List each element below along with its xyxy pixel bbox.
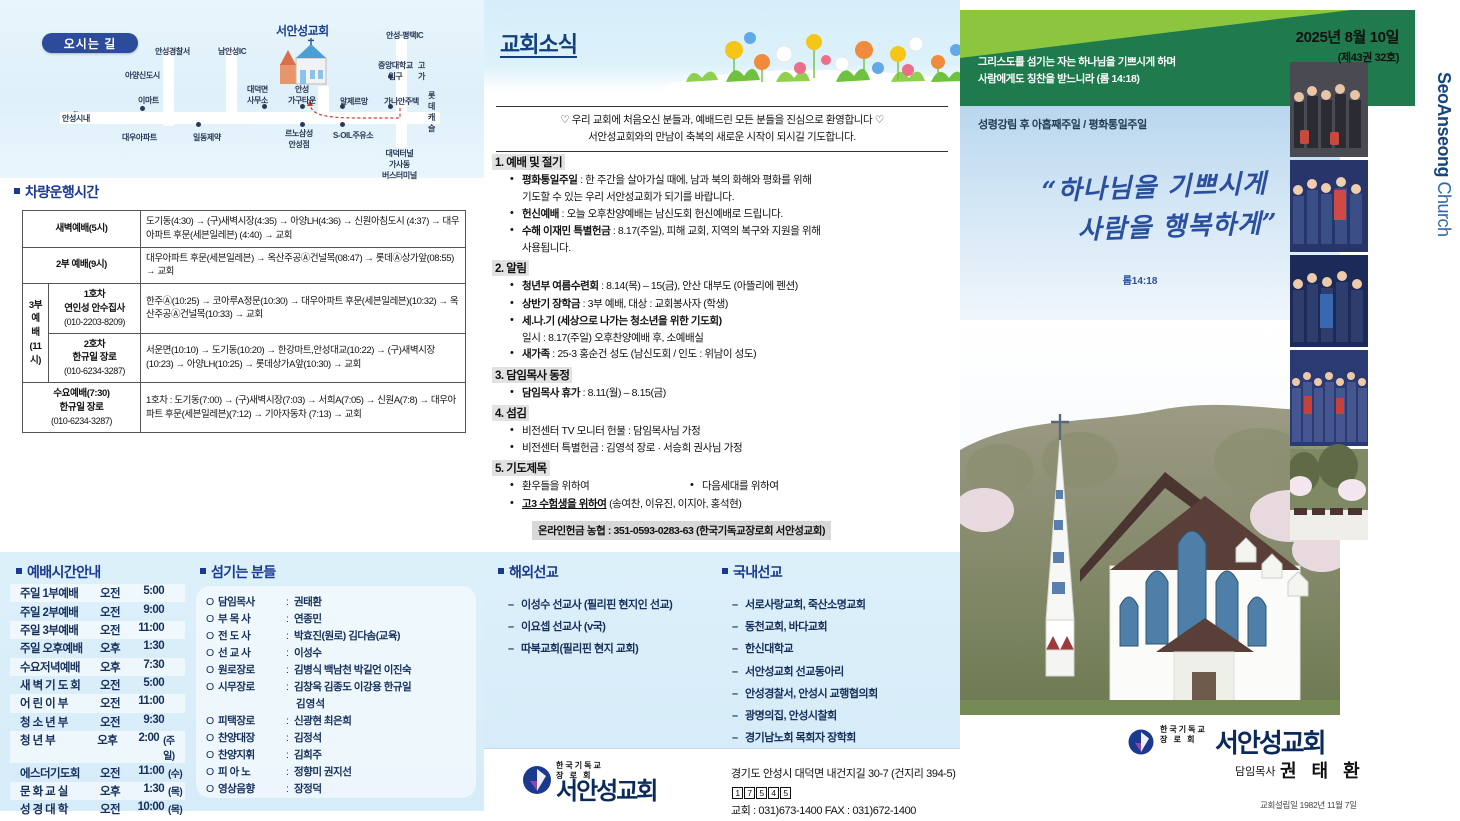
staff-colon: : (286, 747, 294, 764)
worship-time: 5:00 (126, 585, 164, 601)
news-item-continuation: 일시 : 8.17(주일) 오후찬양예배 후, 소예배실 (510, 330, 952, 346)
news-item-text: : 8.11(월) – 8.15(금) (580, 387, 666, 399)
cover-church-name: 서안성교회 (1215, 723, 1325, 760)
mission-label: 경기남노회 목회자 장학회 (745, 732, 856, 744)
list-dash-icon: – (732, 638, 745, 660)
list-dash-icon: – (508, 594, 521, 616)
online-offering-bank: 온라인헌금 농협 : 351-0593-0283-63 (한국기독교장로회 서안… (532, 521, 831, 540)
worship-note (164, 640, 168, 656)
worship-name: 주일 2부예배 (20, 604, 100, 620)
map-label: 안성경찰서 (155, 46, 190, 57)
worship-ampm: 오전 (100, 585, 126, 601)
prayer-item: 고3 수험생을 위하여 (송여찬, 이유진, 이지아, 홍석현) (510, 496, 952, 512)
postal-digit: 1 (732, 787, 743, 799)
mission-label: 안성경찰서, 안성시 교행협의회 (745, 688, 878, 700)
postal-digit: 5 (780, 787, 791, 799)
staff-row: O피택장로:신광현 최은희 (206, 713, 466, 730)
left-lower-panel: 예배시간안내 주일 1부예배오전5:00주일 2부예배오전9:00주일 3부예배… (0, 552, 484, 811)
worship-name: 수요저녁예배 (20, 659, 100, 675)
worship-time-row: 청 년 부오후2:00(주일) (10, 731, 185, 763)
worship-time: 10:00 (126, 801, 164, 817)
staff-role: 피 아 노 (218, 764, 286, 781)
mission-label: 이요셉 선교사 (v국) (521, 621, 605, 633)
worship-note: (목) (164, 783, 182, 799)
staff-heading: 섬기는 분들 (200, 562, 276, 582)
staff-bullet-icon: O (206, 594, 218, 611)
worship-note (164, 659, 168, 675)
bus-row-route: 대우아파트 후문(세븐일레븐) → 옥산주공Ⓐ건널목(08:47) → 롯데Ⓐ상… (141, 247, 466, 284)
domestic-mission-item: –안성경찰서, 안성시 교행협의회 (732, 683, 952, 705)
bus-row-route: 서운면(10:10) → 도기동(10:20) → 한강마트,안성대교(10:2… (141, 333, 466, 383)
worship-time-row: 어 린 이 부오전11:00 (10, 694, 185, 712)
bus-row-route: 도기동(4:30) → (구)새벽시장(4:35) → 아양LH(4:36) →… (141, 211, 466, 248)
worship-time: 2:00 (122, 732, 159, 762)
worship-name: 새 벽 기 도 회 (20, 677, 100, 693)
staff-value: 김희주 (294, 747, 321, 764)
worship-times-list: 주일 1부예배오전5:00주일 2부예배오전9:00주일 3부예배오전11:00… (10, 584, 185, 819)
list-dash-icon: – (732, 616, 745, 638)
staff-role: 원로장로 (218, 662, 286, 679)
vertical-brand-text: SeoAnseong Church (1433, 72, 1454, 237)
worship-note: (주일) (159, 732, 185, 762)
news-item-text: : 오늘 오후찬양예배는 남신도회 헌신예배로 드립니다. (559, 208, 783, 220)
liturgical-season: 성령강림 후 아홉째주일 / 평화통일주일 (978, 116, 1147, 132)
news-item: 세.나.기 (세상으로 나가는 청소년을 위한 기도회) (510, 313, 952, 329)
staff-value: 연종민 (294, 611, 321, 628)
worship-time-row: 주일 3부예배오전11:00 (10, 621, 185, 639)
map-label: 아양신도시 (125, 70, 160, 81)
staff-row: O시무장로:김창욱 김종도 이강용 한규일 (206, 679, 466, 696)
cover-column: 2025년 8월 10일 (제43권 32호) 그리스도를 섬기는 자는 하나님… (960, 0, 1460, 811)
news-item: 수해 이재민 특별헌금 : 8.17(주일), 피해 교회, 지역의 복구와 지… (510, 223, 952, 239)
section-bullet-icon (200, 568, 206, 574)
staff-role: 담임목사 (218, 594, 286, 611)
map-label: 대덕터널 가사동 버스터미널 (382, 148, 417, 181)
prayer-row: 환우들을 위하여다음세대를 위하여 (510, 478, 952, 495)
section-bullet-icon (722, 568, 728, 574)
postal-digit: 4 (768, 787, 779, 799)
worship-name: 문 화 교 실 (20, 783, 100, 799)
map-label: 가나안주택 (384, 96, 419, 107)
list-dash-icon: – (508, 616, 521, 638)
staff-row: O찬양대장:김정석 (206, 730, 466, 747)
news-item: 비전센터 TV 모니터 헌물 : 담임목사님 가정 (510, 423, 952, 439)
staff-row: O부 목 사:연종민 (206, 611, 466, 628)
worship-time-row: 새 벽 기 도 회오전5:00 (10, 676, 185, 694)
news-item: 담임목사 휴가 : 8.11(월) – 8.15(금) (510, 385, 952, 401)
map-label: 안성·평택IC (386, 30, 423, 41)
mission-label: 이성수 선교사 (필리핀 현지인 선교) (521, 599, 672, 611)
worship-ampm: 오전 (100, 765, 126, 781)
directions-map: 오시는 길 서안성교회 (0, 0, 484, 178)
domestic-missions-heading: 국내선교 (722, 562, 782, 582)
worship-note (164, 585, 168, 601)
footer-contact: 한국기독교 장 로 회 서안성교회 경기도 안성시 대덕면 내건지길 30-7 … (484, 748, 960, 811)
established-date: 교회설립일 1982년 11월 7일 (1260, 799, 1357, 811)
news-item: 비전센터 특별헌금 : 김영석 장로 · 서승희 권사님 가정 (510, 440, 952, 456)
calligraphy-reference: 롬14:18 (960, 272, 1320, 287)
news-item-text: : 8.17(주일), 피해 교회, 지역의 복구와 지원을 위해 (610, 225, 820, 237)
list-dash-icon: – (732, 594, 745, 616)
worship-times-heading: 예배시간안내 (16, 562, 101, 582)
news-section: 1. 예배 및 절기평화통일주일 : 한 주간을 살아가실 때에, 남과 북의 … (492, 154, 952, 256)
staff-value: 권태환 (294, 594, 321, 611)
worship-note: (목) (164, 801, 182, 817)
overseas-missions-list: –이성수 선교사 (필리핀 현지인 선교)–이요셉 선교사 (v국)–따북교회(… (508, 594, 718, 661)
news-item-text: : 한 주간을 살아가실 때에, 남과 북의 화해와 평화를 위해 (578, 174, 812, 186)
staff-value-continuation: 김영석 (206, 696, 466, 713)
worship-note (164, 677, 168, 693)
staff-bullet-icon: O (206, 679, 218, 696)
overseas-mission-item: –이요셉 선교사 (v국) (508, 616, 718, 638)
domestic-mission-item: –광명의집, 안성시찰회 (732, 705, 952, 727)
worship-name: 에스더기도회 (20, 765, 100, 781)
map-label: 남안성IC (218, 46, 246, 57)
staff-value: 이성수 (294, 645, 321, 662)
staff-bullet-icon: O (206, 645, 218, 662)
bus-schedule-heading: 차량운행시간 (14, 182, 99, 202)
worship-time: 11:00 (126, 695, 164, 711)
welcome-message: ♡ 우리 교회에 처음오신 분들과, 예배드린 모든 분들을 진심으로 환영합니… (496, 106, 948, 152)
worship-name: 청 년 부 (20, 732, 97, 762)
news-item-text: : 8.14(목) – 15(금), 안산 대부도 (아뜰리에 펜션) (599, 280, 798, 292)
staff-bullet-icon: O (206, 713, 218, 730)
staff-value: 김병식 백남천 박길언 이진숙 (294, 662, 411, 679)
missions-panel: 해외선교 국내선교 –이성수 선교사 (필리핀 현지인 선교)–이요셉 선교사 … (484, 552, 960, 748)
section-bullet-icon (16, 568, 22, 574)
flowers-decoration-icon (666, 20, 960, 92)
prayer-item-link: 고3 수험생을 위하여 (522, 498, 607, 510)
worship-time: 1:30 (126, 783, 164, 799)
news-item-bold: 청년부 여름수련회 (522, 280, 599, 292)
map-label: 중앙대학교 입구 (378, 60, 413, 82)
worship-time-row: 수요저녁예배오후7:30 (10, 658, 185, 676)
news-item: 청년부 여름수련회 : 8.14(목) – 15(금), 안산 대부도 (아뜰리… (510, 278, 952, 294)
staff-colon: : (286, 662, 294, 679)
postal-digit: 5 (756, 787, 767, 799)
worship-time-row: 주일 오후예배오후1:30 (10, 639, 185, 657)
news-item: 상반기 장학금 : 3부 예배, 대상 : 교회봉사자 (학생) (510, 296, 952, 312)
domestic-mission-item: –서로사랑교회, 죽산소명교회 (732, 594, 952, 616)
worship-ampm: 오전 (100, 604, 126, 620)
worship-note (164, 604, 168, 620)
news-item-text: 비전센터 TV 모니터 헌물 : 담임목사님 가정 (522, 425, 700, 437)
worship-time-row: 청 소 년 부오전9:30 (10, 713, 185, 731)
table-row: 2부 예배(9시) 대우아파트 후문(세븐일레븐) → 옥산주공Ⓐ건널목(08:… (23, 247, 466, 284)
bus-row-route: 한주Ⓐ(10:25) → 코아루A정문(10:30) → 대우아파트 후문(세븐… (141, 284, 466, 334)
bus-car-label: 1호차 연인성 안수집사 (010-2203-8209) (49, 284, 141, 334)
staff-role: 영상음향 (218, 781, 286, 798)
bus-car-label: 2호차 한규일 장로 (010-6234-3287) (49, 333, 141, 383)
mission-label: 동천교회, 바다교회 (745, 621, 827, 633)
prayer-item-names: (송여찬, 이유진, 이지아, 홍석현) (607, 498, 742, 510)
domestic-missions-list: –서로사랑교회, 죽산소명교회–동천교회, 바다교회–한신대학교–서안성교회 선… (732, 594, 952, 750)
list-dash-icon: – (732, 661, 745, 683)
mission-label: 서로사랑교회, 죽산소명교회 (745, 599, 866, 611)
issue-date: 2025년 8월 10일 (제43권 32호) (1296, 26, 1399, 65)
staff-role: 선 교 사 (218, 645, 286, 662)
mission-label: 광명의집, 안성시찰회 (745, 710, 837, 722)
bus-row-label: 새벽예배(5시) (23, 211, 141, 248)
table-row: 새벽예배(5시) 도기동(4:30) → (구)새벽시장(4:35) → 아양L… (23, 211, 466, 248)
staff-row: O영상음향:장정덕 (206, 781, 466, 798)
directions-badge: 오시는 길 (42, 33, 138, 53)
worship-ampm: 오전 (100, 801, 126, 817)
staff-bullet-icon: O (206, 611, 218, 628)
worship-name: 청 소 년 부 (20, 714, 100, 730)
staff-colon: : (286, 730, 294, 747)
staff-colon: : (286, 628, 294, 645)
news-item-bold: 수해 이재민 특별헌금 (522, 225, 610, 237)
bus-row-route: 1호차 : 도기동(7:00) → (구)새벽시장(7:03) → 서희A(7:… (141, 383, 466, 433)
news-item-continuation: 사용됩니다. (510, 240, 952, 256)
bulletin-page: 오시는 길 서안성교회 (0, 0, 1460, 811)
staff-role: 전 도 사 (218, 628, 286, 645)
news-section: 2. 알림청년부 여름수련회 : 8.14(목) – 15(금), 안산 대부도… (492, 260, 952, 362)
map-label: 대우아파트 (122, 132, 157, 143)
staff-row: O전 도 사:박효진(원로) 김다솜(교육) (206, 628, 466, 645)
staff-value: 정향미 권지선 (294, 764, 351, 781)
news-item-bold: 새가족 (522, 348, 550, 360)
map-label: 이마트 (138, 95, 159, 106)
staff-value: 박효진(원로) 김다솜(교육) (294, 628, 400, 645)
denomination-label: 한국기독교 장 로 회 (1160, 725, 1207, 746)
section-bullet-icon (498, 568, 504, 574)
staff-bullet-icon: O (206, 764, 218, 781)
news-section-heading: 3. 담임목사 동정 (492, 367, 572, 383)
worship-ampm: 오전 (100, 677, 126, 693)
mission-label: 한신대학교 (745, 643, 793, 655)
staff-row: O찬양지휘:김희주 (206, 747, 466, 764)
church-logo-icon (522, 765, 552, 795)
staff-value: 김창욱 김종도 이강용 한규일 (294, 679, 411, 696)
overseas-missions-heading: 해외선교 (498, 562, 558, 582)
prayer-item: 다음세대를 위하여 (690, 478, 779, 494)
staff-colon: : (286, 611, 294, 628)
bus-row-label: 수요예배(7:30) 한규일 장로 (010-6234-3287) (23, 383, 141, 433)
map-label: 고 가 (418, 60, 425, 82)
map-road-v1 (163, 48, 174, 126)
worship-time: 11:00 (126, 622, 164, 638)
church-building-icon (278, 38, 330, 88)
bus-row-label: 2부 예배(9시) (23, 247, 141, 284)
staff-bullet-icon: O (206, 781, 218, 798)
church-building-photo (960, 320, 1340, 715)
church-logo-icon (1128, 729, 1154, 755)
mission-label: 서안성교회 선교동아리 (745, 666, 844, 678)
cover-footer: 한국기독교 장 로 회 서안성교회 담임목사 권 태 환 교회설립일 1982년… (960, 715, 1460, 811)
table-row: 수요예배(7:30) 한규일 장로 (010-6234-3287) 1호차 : … (23, 383, 466, 433)
worship-ampm: 오후 (100, 783, 126, 799)
worship-ampm: 오후 (97, 732, 122, 762)
worship-note (164, 714, 168, 730)
worship-ampm: 오전 (100, 622, 126, 638)
map-label: 안성 가구타운 (288, 84, 316, 106)
news-section: 3. 담임목사 동정담임목사 휴가 : 8.11(월) – 8.15(금) (492, 367, 952, 401)
table-row: 2호차 한규일 장로 (010-6234-3287) 서운면(10:10) → … (23, 333, 466, 383)
news-section-heading: 5. 기도제목 (492, 460, 550, 476)
list-dash-icon: – (732, 727, 745, 749)
worship-note (164, 695, 168, 711)
staff-colon: : (286, 645, 294, 662)
map-road-v3 (396, 38, 407, 148)
staff-colon: : (286, 594, 294, 611)
news-item: 헌신예배 : 오늘 오후찬양예배는 남신도회 헌신예배로 드립니다. (510, 206, 952, 222)
news-content: 1. 예배 및 절기평화통일주일 : 한 주간을 살아가실 때에, 남과 북의 … (492, 154, 952, 541)
staff-role: 피택장로 (218, 713, 286, 730)
worship-time-row: 문 화 교 실오후1:30(목) (10, 782, 185, 800)
calligraphy-motto: “하나님을 기쁘시게 사람을 행복하게” (989, 162, 1322, 254)
list-dash-icon: – (732, 683, 745, 705)
worship-name: 주일 3부예배 (20, 622, 100, 638)
staff-role: 찬양지휘 (218, 747, 286, 764)
staff-role: 시무장로 (218, 679, 286, 696)
footer-church-name: 서안성교회 (556, 771, 656, 806)
staff-bullet-icon: O (206, 730, 218, 747)
map-label: 롯 데 캐 슬 (428, 90, 435, 134)
worship-note (164, 622, 168, 638)
map-dot (140, 106, 145, 111)
domestic-mission-item: –서안성교회 선교동아리 (732, 661, 952, 683)
worship-name: 주일 오후예배 (20, 640, 100, 656)
news-item-bold: 평화통일주일 (522, 174, 578, 186)
staff-value: 김정석 (294, 730, 321, 747)
photo-strip-images (1290, 62, 1368, 540)
worship-note: (수) (164, 765, 182, 781)
worship-time: 9:30 (126, 714, 164, 730)
overseas-mission-item: –따북교회(필리핀 현지 교회) (508, 638, 718, 660)
staff-colon: : (286, 764, 294, 781)
map-label: 대덕면 사무소 (247, 84, 268, 106)
staff-colon: : (286, 781, 294, 798)
news-item-text: : 3부 예배, 대상 : 교회봉사자 (학생) (580, 298, 728, 310)
staff-colon: : (286, 713, 294, 730)
staff-colon: : (286, 679, 294, 696)
domestic-mission-item: –경기남노회 목회자 장학회 (732, 727, 952, 749)
staff-value: 장정덕 (294, 781, 321, 798)
bus-schedule-table: 새벽예배(5시) 도기동(4:30) → (구)새벽시장(4:35) → 아양L… (22, 210, 466, 433)
news-item-bold: 세.나.기 (세상으로 나가는 청소년을 위한 기도회) (522, 315, 722, 327)
news-title: 교회소식 (500, 27, 577, 59)
staff-row: O선 교 사:이성수 (206, 645, 466, 662)
map-label: 안성시내 (62, 113, 90, 124)
worship-ampm: 오전 (100, 714, 126, 730)
news-section-prayer: 5. 기도제목환우들을 위하여다음세대를 위하여고3 수험생을 위하여 (송여찬… (492, 460, 952, 540)
news-column: 교회소식 (484, 0, 960, 811)
overseas-mission-item: –이성수 선교사 (필리핀 현지인 선교) (508, 594, 718, 616)
staff-row: O피 아 노:정향미 권지선 (206, 764, 466, 781)
staff-role: 부 목 사 (218, 611, 286, 628)
worship-time: 1:30 (126, 640, 164, 656)
worship-time-row: 에스더기도회오전11:00(수) (10, 763, 185, 781)
news-item-bold: 헌신예배 (522, 208, 559, 220)
prayer-item: 환우들을 위하여 (510, 478, 690, 494)
mission-label: 따북교회(필리핀 현지 교회) (521, 643, 638, 655)
staff-bullet-icon: O (206, 662, 218, 679)
worship-time: 5:00 (126, 677, 164, 693)
staff-value: 신광현 최은희 (294, 713, 351, 730)
map-road-v2 (226, 48, 237, 116)
news-item: 평화통일주일 : 한 주간을 살아가실 때에, 남과 북의 화해와 평화를 위해 (510, 172, 952, 188)
domestic-mission-item: –한신대학교 (732, 638, 952, 660)
news-item-continuation: 기도할 수 있는 우리 서안성교회가 되기를 바랍니다. (510, 189, 952, 205)
map-label: 르노삼성 안성점 (285, 128, 313, 150)
list-dash-icon: – (508, 638, 521, 660)
map-label: 일동제약 (193, 132, 221, 143)
worship-name: 주일 1부예배 (20, 585, 100, 601)
news-item-text: : 25-3 홍순건 성도 (남신도회 / 인도 : 위남이 성도) (550, 348, 757, 360)
worship-name: 성 경 대 학 (20, 801, 100, 817)
news-header-band: 교회소식 (484, 0, 960, 92)
section-bullet-icon (14, 188, 20, 194)
worship-time-row: 주일 1부예배오전5:00 (10, 584, 185, 602)
worship-time: 11:00 (126, 765, 164, 781)
map-label: 알제르망 (340, 96, 368, 107)
staff-row: O담임목사:권태환 (206, 594, 466, 611)
worship-time: 9:00 (126, 604, 164, 620)
staff-role: 찬양대장 (218, 730, 286, 747)
table-row: 3부 예배 (11시) 1호차 연인성 안수집사 (010-2203-8209)… (23, 284, 466, 334)
map-label: S-OIL주유소 (333, 130, 373, 141)
header-verse: 그리스도를 섬기는 자는 하나님을 기쁘시게 하며 사람에게도 칭찬을 받느니라… (978, 54, 1176, 88)
news-item-bold: 상반기 장학금 (522, 298, 580, 310)
list-dash-icon: – (732, 705, 745, 727)
congregation-photo-strip (1290, 62, 1368, 540)
staff-bullet-icon: O (206, 628, 218, 645)
news-section: 4. 섬김비전센터 TV 모니터 헌물 : 담임목사님 가정비전센터 특별헌금 … (492, 405, 952, 457)
worship-ampm: 오후 (100, 640, 126, 656)
worship-time: 7:30 (126, 659, 164, 675)
postal-digit: 7 (744, 787, 755, 799)
news-section-heading: 1. 예배 및 절기 (492, 154, 565, 170)
map-church-label: 서안성교회 (276, 22, 329, 39)
pastor-label: 담임목사 (1235, 763, 1275, 779)
domestic-mission-item: –동천교회, 바다교회 (732, 616, 952, 638)
pastor-name: 권 태 환 (1280, 757, 1365, 783)
left-column: 오시는 길 서안성교회 (0, 0, 484, 811)
staff-bullet-icon: O (206, 747, 218, 764)
news-item-text: 비전센터 특별헌금 : 김영석 장로 · 서승희 권사님 가정 (522, 442, 742, 454)
news-section-heading: 4. 섬김 (492, 405, 529, 421)
bus-group-label: 3부 예배 (11시) (23, 284, 49, 383)
worship-time-row: 주일 2부예배오전9:00 (10, 602, 185, 620)
postal-code: 17545 (731, 784, 791, 803)
news-item-bold: 담임목사 휴가 (522, 387, 580, 399)
footer-address: 경기도 안성시 대덕면 내건지길 30-7 (건지리 394-5) 17545 … (731, 765, 960, 821)
worship-ampm: 오전 (100, 695, 126, 711)
worship-ampm: 오후 (100, 659, 126, 675)
news-item: 새가족 : 25-3 홍순건 성도 (남신도회 / 인도 : 위남이 성도) (510, 346, 952, 362)
worship-name: 어 린 이 부 (20, 695, 100, 711)
worship-time-row: 성 경 대 학오전10:00(목) (10, 800, 185, 818)
map-dot (196, 122, 201, 127)
news-section-heading: 2. 알림 (492, 260, 529, 276)
staff-list: O담임목사:권태환O부 목 사:연종민O전 도 사:박효진(원로) 김다솜(교육… (196, 586, 476, 798)
staff-row: O원로장로:김병식 백남천 박길언 이진숙 (206, 662, 466, 679)
